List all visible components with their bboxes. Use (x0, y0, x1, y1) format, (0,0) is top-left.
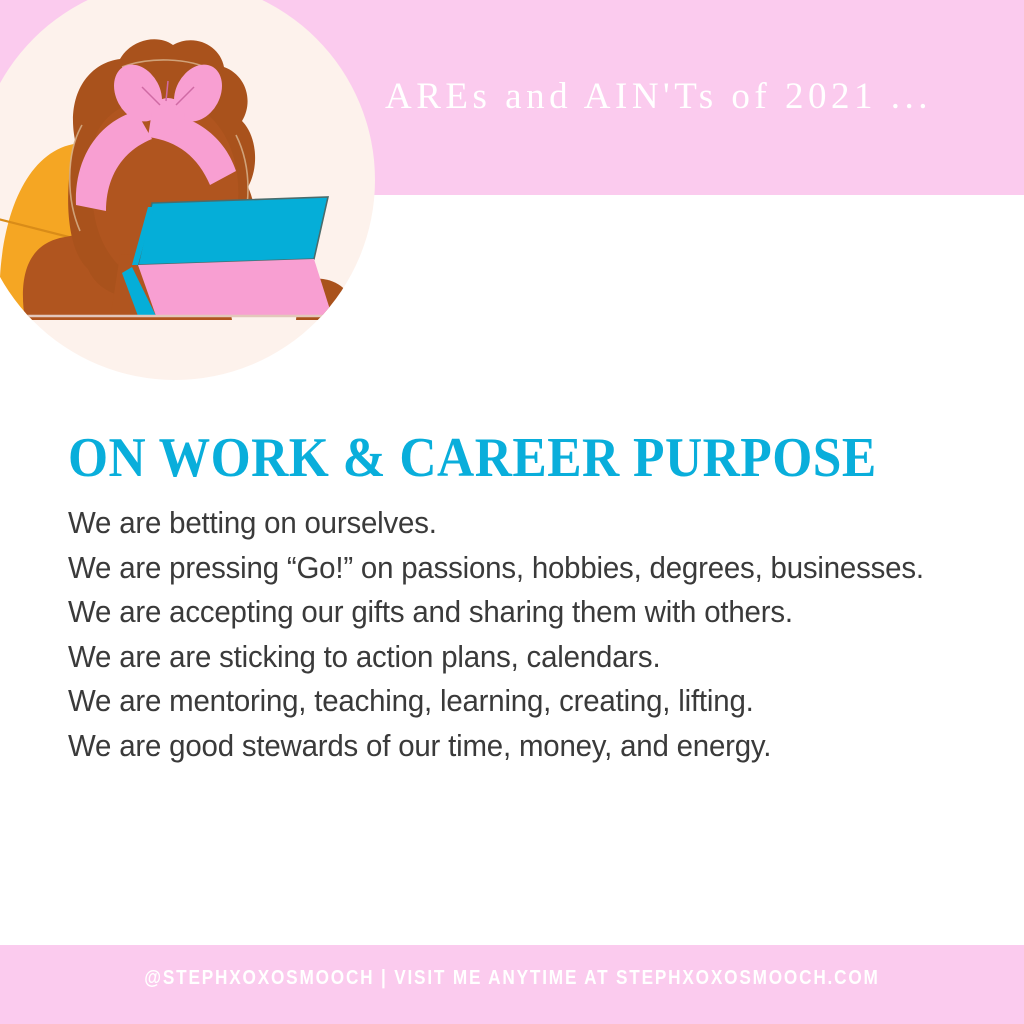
main-content: ON WORK & CAREER PURPOSE We are betting … (68, 430, 1024, 768)
footer-credit: @STEPHXOXOSMOOCH | VISIT ME ANYTIME AT S… (72, 967, 953, 990)
list-item: We are accepting our gifts and sharing t… (68, 590, 991, 635)
laptop-screen (138, 197, 328, 265)
laptop-keyboard-base (138, 259, 332, 316)
list-item: We are pressing “Go!” on passions, hobbi… (68, 546, 991, 591)
list-item: We are mentoring, teaching, learning, cr… (68, 679, 991, 724)
header-title: AREs and AIN'Ts of 2021 ... (385, 78, 1005, 115)
statement-list: We are betting on ourselves. We are pres… (68, 501, 1024, 768)
list-item: We are are sticking to action plans, cal… (68, 635, 991, 680)
list-item: We are good stewards of our time, money,… (68, 724, 991, 769)
page-title: ON WORK & CAREER PURPOSE (68, 430, 948, 487)
slide-canvas: AREs and AIN'Ts of 2021 ... (0, 0, 1024, 1024)
list-item: We are betting on ourselves. (68, 501, 991, 546)
woman-at-laptop-illustration (0, 0, 390, 395)
